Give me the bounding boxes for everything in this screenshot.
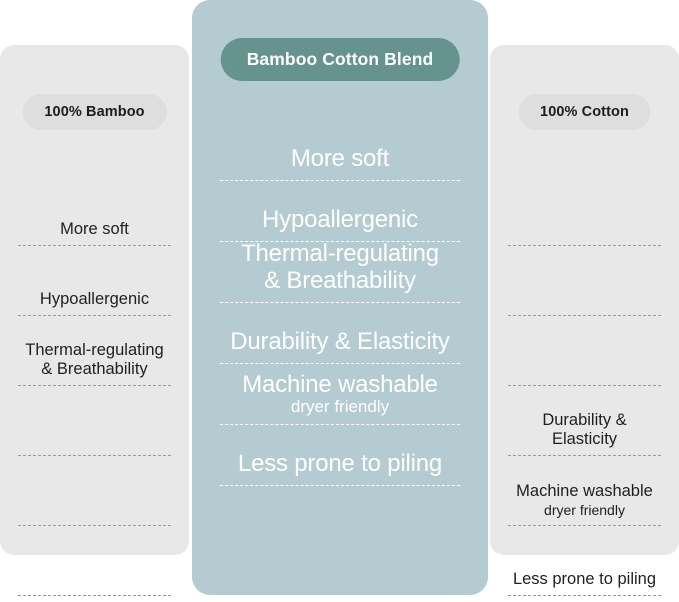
feature-row: Hypoallergenic: [220, 181, 460, 242]
feature-label: Thermal-regulating& Breathability: [241, 241, 439, 295]
feature-row: More soft: [18, 176, 171, 246]
feature-label: Machine washable: [242, 372, 438, 399]
feature-label: More soft: [60, 220, 129, 239]
feature-row-empty: [508, 176, 661, 246]
feature-row-empty: [18, 386, 171, 456]
feature-row: Durability &Elasticity: [508, 386, 661, 456]
feature-list-bamboo: More soft Hypoallergenic Thermal-regulat…: [0, 176, 189, 596]
feature-sublabel: dryer friendly: [291, 397, 389, 417]
feature-label: Durability & Elasticity: [230, 329, 449, 356]
feature-label: Hypoallergenic: [262, 207, 418, 234]
feature-list-cotton: Durability &Elasticity Machine washable …: [490, 176, 679, 596]
feature-sublabel: dryer friendly: [544, 502, 625, 519]
feature-label: Hypoallergenic: [40, 290, 149, 309]
column-badge-bamboo-cotton-blend: Bamboo Cotton Blend: [221, 38, 460, 81]
feature-label: Thermal-regulating& Breathability: [25, 341, 163, 379]
feature-row: Machine washable dryer friendly: [220, 364, 460, 425]
feature-list-bamboo-cotton-blend: More soft Hypoallergenic Thermal-regulat…: [192, 120, 488, 486]
feature-row-empty: [508, 246, 661, 316]
feature-row-empty: [18, 456, 171, 526]
feature-row: Machine washable dryer friendly: [508, 456, 661, 526]
feature-label: More soft: [291, 146, 389, 173]
feature-label: Less prone to piling: [238, 451, 442, 478]
feature-label: Durability &Elasticity: [542, 411, 626, 449]
column-bamboo-cotton-blend: Bamboo Cotton Blend More soft Hypoallerg…: [192, 0, 488, 595]
feature-row: Hypoallergenic: [18, 246, 171, 316]
column-badge-cotton: 100% Cotton: [518, 94, 651, 130]
feature-label: Less prone to piling: [513, 570, 656, 589]
feature-row: Durability & Elasticity: [220, 303, 460, 364]
feature-row-empty: [18, 526, 171, 596]
column-100-percent-cotton: 100% Cotton Durability &Elasticity Machi…: [490, 45, 679, 555]
feature-label: Machine washable: [516, 482, 653, 501]
feature-row-empty: [508, 316, 661, 386]
feature-row: Less prone to piling: [508, 526, 661, 596]
feature-row: Thermal-regulating& Breathability: [18, 316, 171, 386]
column-badge-bamboo: 100% Bamboo: [22, 94, 166, 130]
feature-row: Less prone to piling: [220, 425, 460, 486]
feature-comparison-graphic: 100% Bamboo More soft Hypoallergenic The…: [0, 0, 679, 602]
feature-row: More soft: [220, 120, 460, 181]
feature-row: Thermal-regulating& Breathability: [220, 242, 460, 303]
column-100-percent-bamboo: 100% Bamboo More soft Hypoallergenic The…: [0, 45, 189, 555]
